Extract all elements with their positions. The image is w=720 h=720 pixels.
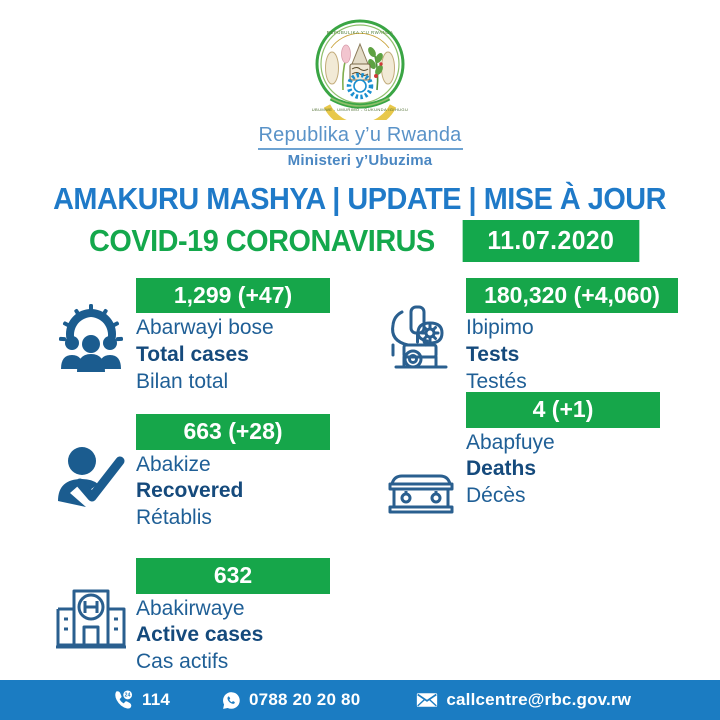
stat-label-en: Total cases xyxy=(136,342,330,369)
virus-people-icon xyxy=(52,292,130,384)
phone-24h-icon: 24 xyxy=(112,689,134,711)
stats-row: 632 Abakirwaye Active cases Cas actifs xyxy=(0,558,720,676)
whatsapp-icon xyxy=(222,691,241,710)
stat-label-fr: Décès xyxy=(466,483,660,510)
hotline-number: 114 xyxy=(142,690,170,710)
hospital-icon xyxy=(52,572,130,664)
page-subtitle: COVID-19 CORONAVIRUS xyxy=(89,223,435,259)
coffin-icon xyxy=(382,448,460,540)
stat-label-fr: Bilan total xyxy=(136,369,330,396)
stat-card-recovered: 663 (+28) Abakize Recovered Rétablis xyxy=(0,414,360,540)
stat-value: 1,299 (+47) xyxy=(136,278,330,313)
stat-value: 4 (+1) xyxy=(466,392,660,427)
stat-label-en: Active cases xyxy=(136,622,330,649)
stat-label-en: Recovered xyxy=(136,478,330,505)
stat-value: 632 xyxy=(136,558,330,593)
envelope-icon xyxy=(416,692,438,708)
svg-text:24: 24 xyxy=(125,693,131,699)
stat-label-fr: Cas actifs xyxy=(136,649,330,676)
stat-label-rw: Abakirwaye xyxy=(136,596,330,623)
rwanda-coat-of-arms-icon: REPUBULIKA Y'U RWANDA xyxy=(307,14,413,120)
email-address: callcentre@rbc.gov.rw xyxy=(446,690,631,710)
whatsapp-number: 0788 20 20 80 xyxy=(249,690,360,710)
header-divider xyxy=(258,148,463,150)
date-badge: 11.07.2020 xyxy=(463,220,639,262)
title-block: AMAKURU MASHYA | UPDATE | MISE À JOUR CO… xyxy=(0,181,720,262)
stat-value: 180,320 (+4,060) xyxy=(466,278,678,313)
person-check-icon xyxy=(52,428,130,520)
header: REPUBULIKA Y'U RWANDA xyxy=(0,0,720,169)
contact-footer: 24 114 0788 20 20 80 callcentre@rbc.gov.… xyxy=(0,680,720,720)
svg-text:REPUBULIKA Y'U RWANDA: REPUBULIKA Y'U RWANDA xyxy=(327,30,394,35)
stat-body: 4 (+1) Abapfuye Deaths Décès xyxy=(460,392,660,510)
stats-row: 663 (+28) Abakize Recovered Rétablis xyxy=(0,414,720,540)
title-subrow: COVID-19 CORONAVIRUS 11.07.2020 xyxy=(76,220,644,262)
stat-label-en: Deaths xyxy=(466,456,660,483)
stat-card-total-cases: 1,299 (+47) Abarwayi bose Total cases Bi… xyxy=(0,278,360,396)
stat-label-fr: Rétablis xyxy=(136,505,330,532)
stat-label-rw: Abarwayi bose xyxy=(136,315,330,342)
ministry-name: Ministeri y’Ubuzima xyxy=(288,152,433,169)
email-contact[interactable]: callcentre@rbc.gov.rw xyxy=(416,690,631,710)
hotline-contact[interactable]: 24 114 xyxy=(112,689,170,711)
stats-grid: 1,299 (+47) Abarwayi bose Total cases Bi… xyxy=(0,278,720,676)
stat-card-deaths: 4 (+1) Abapfuye Deaths Décès xyxy=(360,414,720,540)
stat-card-empty xyxy=(360,558,720,676)
microscope-icon xyxy=(382,292,460,384)
stat-label-en: Tests xyxy=(466,342,678,369)
whatsapp-contact[interactable]: 0788 20 20 80 xyxy=(222,690,360,710)
stat-card-active-cases: 632 Abakirwaye Active cases Cas actifs xyxy=(0,558,360,676)
stat-label-rw: Abakize xyxy=(136,452,330,479)
stat-value: 663 (+28) xyxy=(136,414,330,449)
stat-body: 1,299 (+47) Abarwayi bose Total cases Bi… xyxy=(130,278,330,396)
stats-row: 1,299 (+47) Abarwayi bose Total cases Bi… xyxy=(0,278,720,396)
stat-label-rw: Abapfuye xyxy=(466,430,660,457)
stat-card-tests: 180,320 (+4,060) Ibipimo Tests Testés xyxy=(360,278,720,396)
stat-body: 663 (+28) Abakize Recovered Rétablis xyxy=(130,414,330,532)
country-name: Republika y’u Rwanda xyxy=(258,124,461,146)
stat-body: 180,320 (+4,060) Ibipimo Tests Testés xyxy=(460,278,678,396)
svg-text:UBUMWE - UMURIMO - GUKUNDA IGI: UBUMWE - UMURIMO - GUKUNDA IGIHUGU xyxy=(312,107,409,112)
page-title: AMAKURU MASHYA | UPDATE | MISE À JOUR xyxy=(54,181,667,217)
stat-label-rw: Ibipimo xyxy=(466,315,678,342)
stat-body: 632 Abakirwaye Active cases Cas actifs xyxy=(130,558,330,676)
